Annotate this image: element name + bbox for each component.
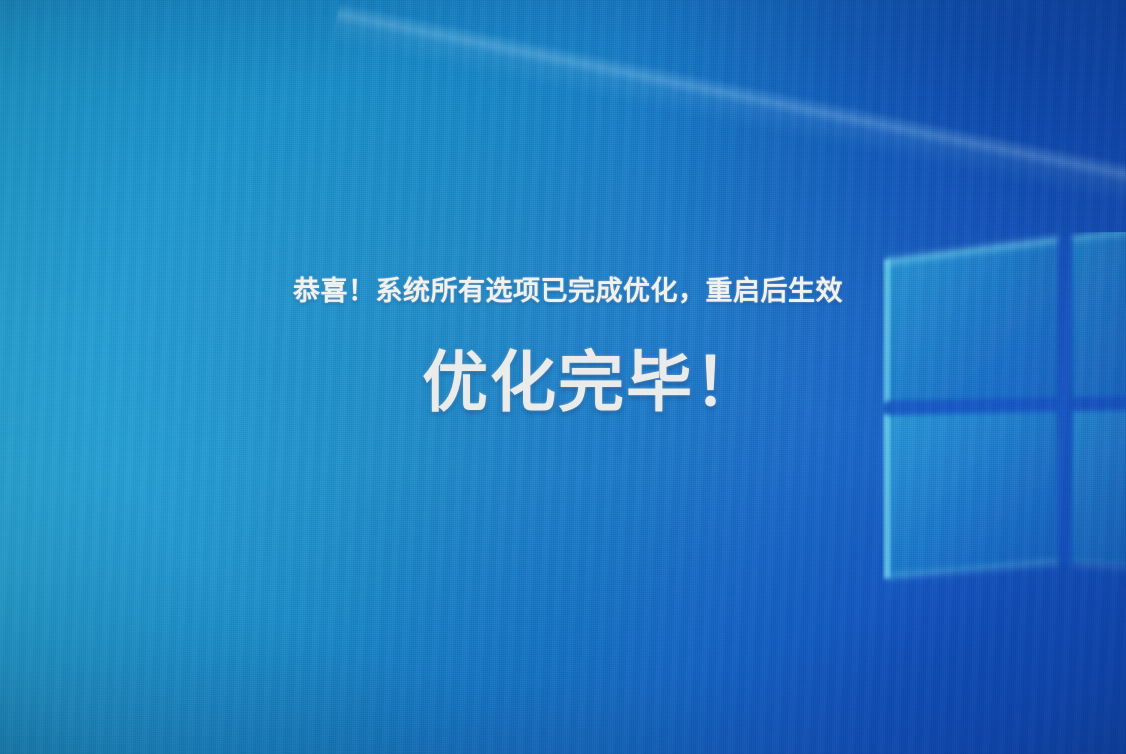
desktop-screen: 恭喜！系统所有选项已完成优化，重启后生效 优化完毕！ — [0, 0, 1126, 754]
lens-vignette — [0, 0, 1126, 754]
